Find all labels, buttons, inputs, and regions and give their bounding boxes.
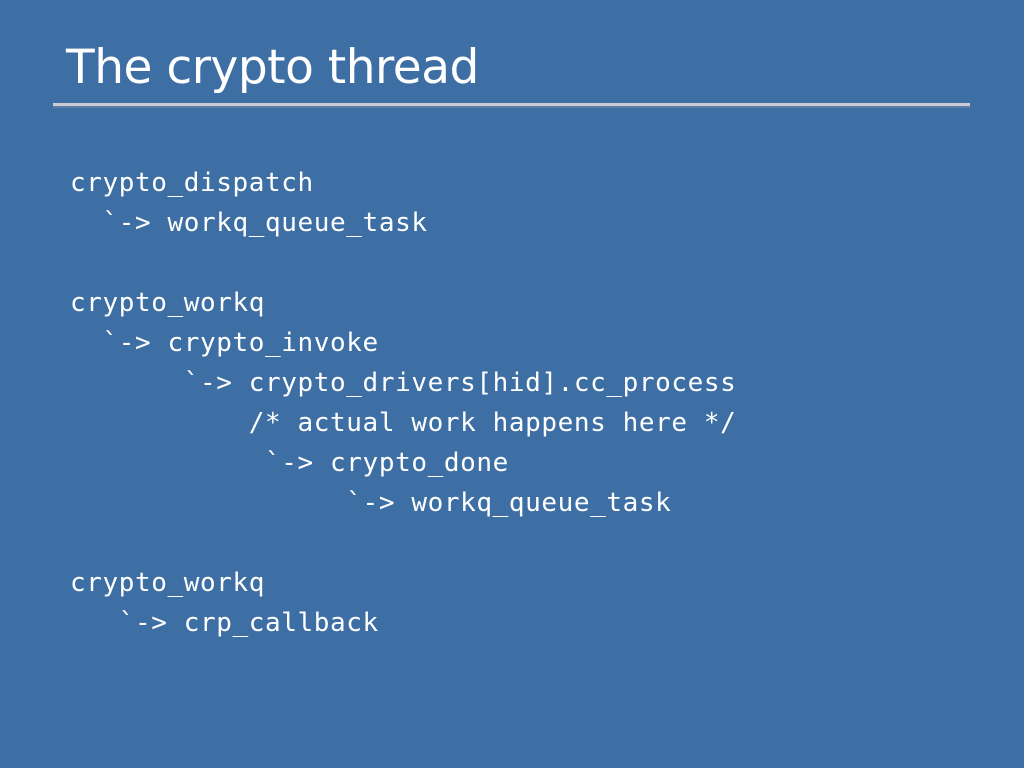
code-line: crypto_workq [70,283,990,323]
title-underline-rule [53,103,970,108]
crypto-dispatch-trace: crypto_dispatch `-> workq_queue_task [70,163,990,243]
code-block-spacer [70,243,990,283]
presentation-slide: The crypto thread crypto_dispatch `-> wo… [0,0,1024,768]
code-block-spacer [70,523,990,563]
code-line: `-> workq_queue_task [70,203,990,243]
code-line: `-> crp_callback [70,603,990,643]
code-line: crypto_dispatch [70,163,990,203]
code-line: /* actual work happens here */ [70,403,990,443]
code-line: `-> crypto_invoke [70,323,990,363]
page-title: The crypto thread [66,42,479,94]
code-line: `-> crypto_done [70,443,990,483]
code-line: `-> crypto_drivers[hid].cc_process [70,363,990,403]
code-line: crypto_workq [70,563,990,603]
crypto-workq-invoke-trace: crypto_workq `-> crypto_invoke `-> crypt… [70,283,990,523]
code-line: `-> workq_queue_task [70,483,990,523]
crypto-workq-callback-trace: crypto_workq `-> crp_callback [70,563,990,643]
slide-body: crypto_dispatch `-> workq_queue_taskcryp… [70,163,990,643]
